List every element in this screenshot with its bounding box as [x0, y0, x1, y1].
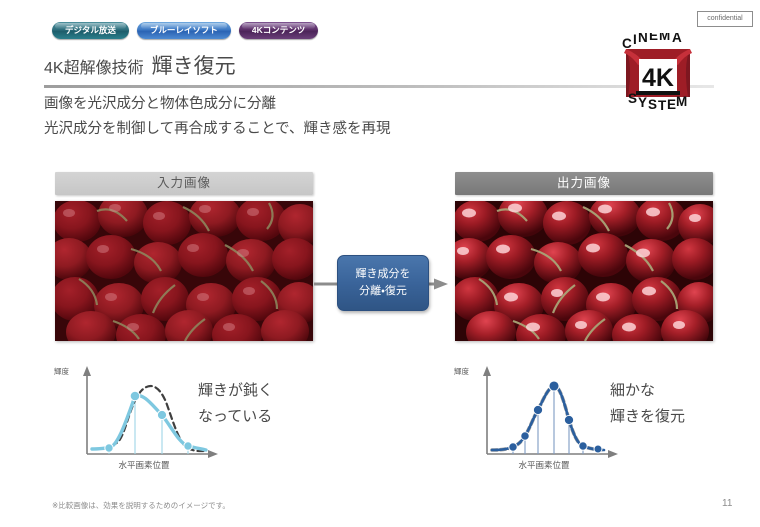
- page-title-prefix: 4K超解像技術: [44, 54, 144, 78]
- graph-output-annotation-line-1: 細かな: [610, 378, 685, 404]
- graph-input-annotation-line-2: なっている: [198, 404, 273, 430]
- logo-top-text: C I N E M A: [622, 33, 682, 51]
- output-panel: 出力画像: [455, 172, 713, 341]
- graph-output-reference-curve: [492, 386, 604, 450]
- cherries-image-output: [455, 201, 713, 341]
- graph-input-reference-curve: [92, 386, 206, 451]
- graph-output-annotation-line-2: 輝きを復元: [610, 404, 685, 430]
- graph-output-marker: [533, 405, 542, 414]
- page-number: 11: [722, 498, 732, 509]
- input-panel-header: 入力画像: [55, 172, 313, 195]
- input-panel: 入力画像: [55, 172, 313, 341]
- graph-output-curve: [492, 386, 604, 450]
- cherries-photo-output: [455, 201, 713, 341]
- footnote: ※比較画像は、効果を説明するためのイメージです。: [52, 500, 230, 511]
- logo-center-text: 4K: [642, 64, 674, 92]
- cherries-image-input: [55, 201, 313, 341]
- category-badge-row: デジタル放送 ブルーレイソフト 4Kコンテンツ: [52, 22, 318, 39]
- body-copy: 画像を光沢成分と物体色成分に分離 光沢成分を制御して再合成することで、輝き感を再…: [44, 92, 391, 142]
- graph-input-annotation: 輝きが鈍く なっている: [198, 378, 273, 430]
- badge-digital-broadcast: デジタル放送: [52, 22, 129, 39]
- graph-output-marker: [521, 432, 529, 440]
- graph-input-annotation-line-1: 輝きが鈍く: [198, 378, 273, 404]
- confidential-stamp: confidential: [697, 11, 753, 27]
- graph-input-marker: [157, 410, 166, 419]
- graph-output-annotation: 細かな 輝きを復元: [610, 378, 685, 430]
- graph-output-marker: [594, 445, 602, 453]
- graph-output-marker: [579, 442, 587, 450]
- process-callout-line-2: 分離・復元: [359, 283, 407, 300]
- graph-output-marker: [509, 443, 517, 451]
- graph-input-ylabel: 輝度: [54, 366, 69, 376]
- body-copy-line-2: 光沢成分を制御して再合成することで、輝き感を再現: [44, 117, 391, 142]
- process-callout-line-1: 輝き成分を: [356, 266, 411, 283]
- graph-input-marker: [105, 444, 113, 452]
- graph-input-xlabel: 水平画素位置: [118, 460, 170, 470]
- body-copy-line-1: 画像を光沢成分と物体色成分に分離: [44, 92, 391, 117]
- graph-output-xlabel: 水平画素位置: [518, 460, 570, 470]
- graph-input-marker: [130, 391, 140, 401]
- badge-bluray-software: ブルーレイソフト: [137, 22, 231, 39]
- output-panel-header: 出力画像: [455, 172, 713, 195]
- badge-4k-content: 4Kコンテンツ: [239, 22, 318, 39]
- slide-canvas: confidential デジタル放送 ブルーレイソフト 4Kコンテンツ 4K超…: [0, 0, 760, 527]
- graph-input-marker: [184, 442, 192, 450]
- graph-output-marker: [564, 415, 573, 424]
- page-title-main: 輝き復元: [152, 50, 236, 80]
- graph-output-ylabel: 輝度: [454, 366, 469, 376]
- cinema-4k-system-logo: 4K C I N E M A S Y S T E M: [614, 33, 702, 111]
- logo-graphic: 4K C I N E M A S Y S T E M: [614, 33, 702, 111]
- cherries-photo-input: [55, 201, 313, 341]
- graph-output-marker: [549, 381, 559, 391]
- process-callout: 輝き成分を 分離・復元: [337, 255, 429, 311]
